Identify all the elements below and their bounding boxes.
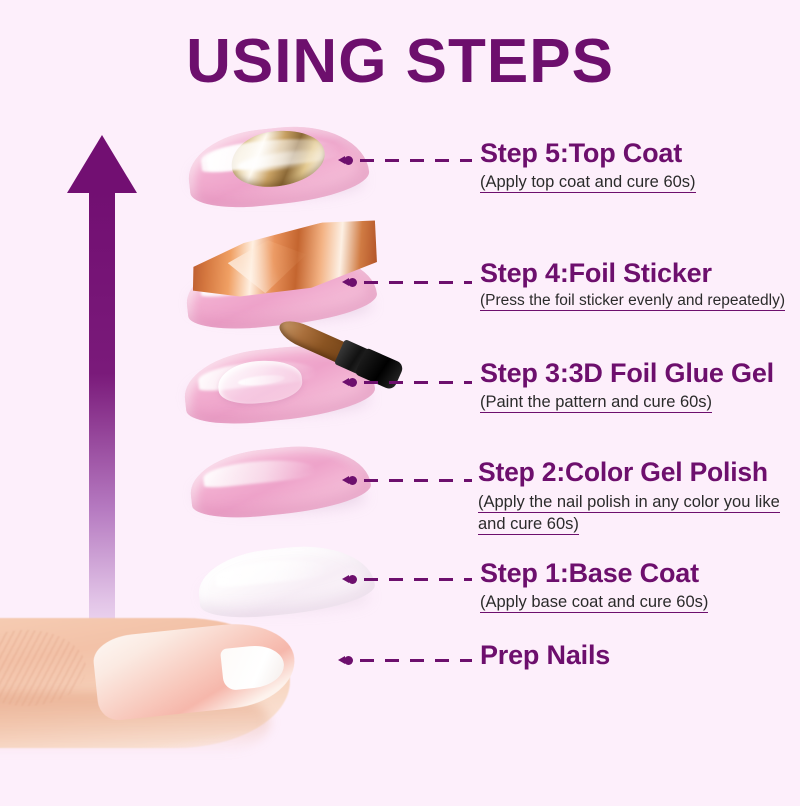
leader-dot-icon [348, 378, 357, 387]
step-1-leader-line [348, 572, 472, 586]
step-4-text-block: Step 4:Foil Sticker (Press the foil stic… [480, 258, 785, 312]
step-3-text-block: Step 3:3D Foil Glue Gel (Paint the patte… [480, 358, 774, 414]
step-2-leader-line [348, 473, 472, 487]
step-3-leader-line [348, 375, 472, 389]
step-4-nail-image [186, 255, 376, 325]
step-3-subtitle: (Paint the pattern and cure 60s) [480, 393, 712, 413]
page-title: USING STEPS [0, 26, 800, 97]
step-5-text-block: Step 5:Top Coat (Apply top coat and cure… [480, 138, 696, 194]
step-3-heading: Step 3:3D Foil Glue Gel [480, 358, 774, 388]
leader-dashes [360, 159, 472, 162]
leader-dashes [364, 381, 472, 384]
leader-dashes [364, 479, 472, 482]
arrow-head-icon [67, 135, 137, 193]
leader-dot-icon [344, 156, 353, 165]
step-2-subtitle: (Apply the nail polish in any color you … [478, 493, 780, 535]
step-2-heading: Step 2:Color Gel Polish [478, 458, 796, 488]
upward-progress-arrow [62, 135, 142, 675]
step-1-subtitle: (Apply base coat and cure 60s) [480, 593, 708, 613]
step-2-subtitle-wrap: (Apply the nail polish in any color you … [478, 491, 796, 536]
leader-dot-icon [348, 278, 357, 287]
step-1-text-block: Step 1:Base Coat (Apply base coat and cu… [480, 558, 708, 614]
step-4-leader-line [348, 275, 472, 289]
step-4-subtitle: (Press the foil sticker evenly and repea… [480, 292, 785, 311]
leader-dashes [360, 659, 472, 662]
step-5-subtitle-wrap: (Apply top coat and cure 60s) [480, 171, 696, 193]
step-5-leader-line [344, 153, 472, 167]
prep-heading: Prep Nails [480, 640, 610, 670]
step-5-heading: Step 5:Top Coat [480, 138, 696, 168]
step-4-heading: Step 4:Foil Sticker [480, 258, 785, 288]
prep-leader-line [344, 653, 472, 667]
step-1-heading: Step 1:Base Coat [480, 558, 708, 588]
step-2-text-block: Step 2:Color Gel Polish (Apply the nail … [478, 458, 796, 535]
step-1-subtitle-wrap: (Apply base coat and cure 60s) [480, 591, 708, 613]
leader-dot-icon [348, 476, 357, 485]
step-5-nail-image [188, 128, 368, 204]
prep-text-block: Prep Nails [480, 640, 610, 670]
leader-dot-icon [344, 656, 353, 665]
step-5-subtitle: (Apply top coat and cure 60s) [480, 173, 696, 193]
step-3-subtitle-wrap: (Paint the pattern and cure 60s) [480, 391, 774, 413]
infographic-canvas: USING STEPS Step 5:Top Coat (Apply top c… [0, 0, 800, 800]
leader-dot-icon [348, 575, 357, 584]
leader-dashes [364, 281, 472, 284]
leader-dashes [364, 578, 472, 581]
step-4-subtitle-wrap: (Press the foil sticker evenly and repea… [480, 291, 785, 312]
prep-nails-finger-image [0, 596, 390, 806]
